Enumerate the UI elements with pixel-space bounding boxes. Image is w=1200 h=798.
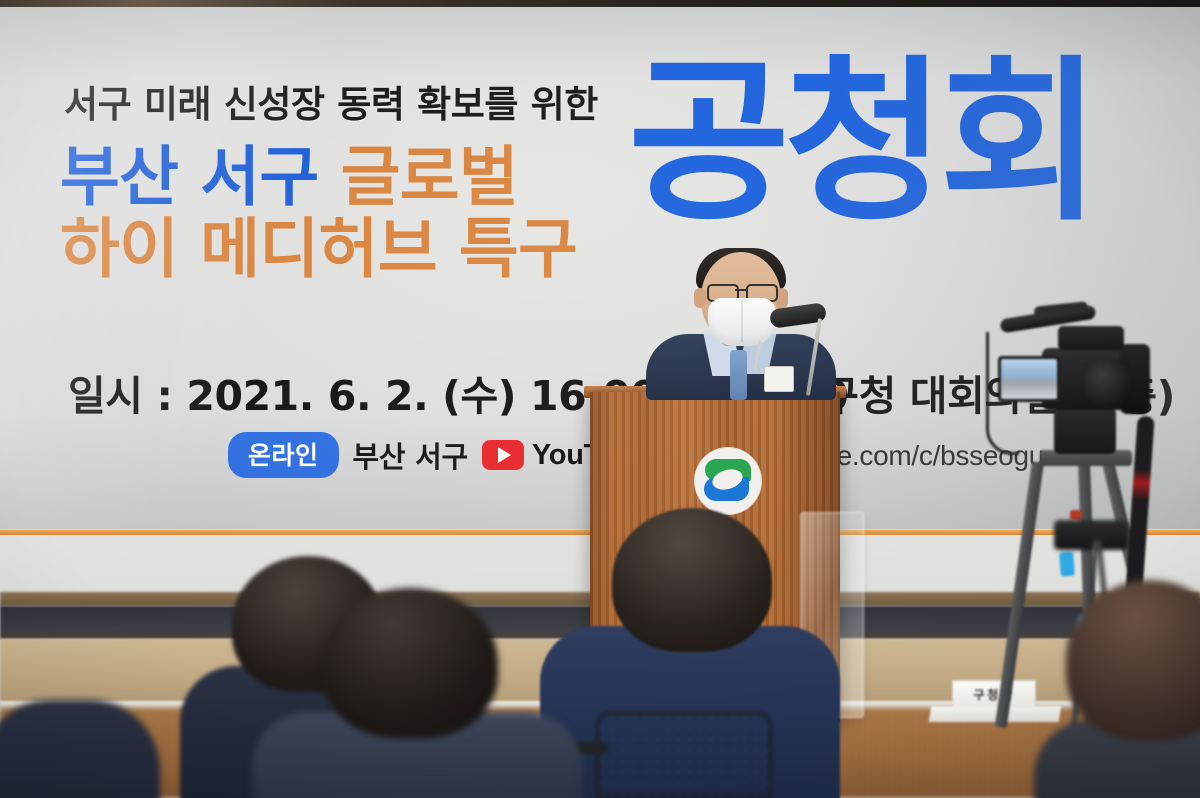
banner-online-row: 온라인 부산 서구 YouTube [228, 432, 650, 478]
tripod-fluid-head [1054, 408, 1116, 454]
glasses-bridge [735, 289, 746, 291]
tripod-blue-marker [1059, 552, 1075, 577]
camera-hotshoe [1058, 326, 1124, 350]
office-chair [596, 712, 772, 798]
youtube-play-icon [482, 440, 524, 470]
banner-headline-line3: 하이 메디허브 특구 [60, 196, 577, 290]
speaker-tie [730, 350, 747, 400]
banner-big-title: 공청회 [628, 60, 1095, 225]
audience-member [0, 700, 160, 798]
audience-member [276, 588, 576, 798]
camera-lens-icon [1084, 360, 1130, 404]
tripod-leg [995, 461, 1044, 728]
second-camera-head [1054, 520, 1128, 550]
podium-emblem-icon [694, 447, 762, 515]
ceiling-strip [0, 0, 1200, 7]
online-badge: 온라인 [228, 432, 339, 478]
online-channel-name: 부산 서구 [353, 434, 468, 476]
photo-scene: 서구 미래 신성장 동력 확보를 위한 부산 서구 글로벌 하이 메디허브 특구… [0, 0, 1200, 798]
banner-headline-top: 서구 미래 신성장 동력 확보를 위한 [64, 74, 598, 128]
speaker-ear-left [694, 288, 706, 308]
camera-lcd-screen [998, 356, 1060, 402]
audience-member [1044, 580, 1200, 798]
speaker-name-badge [764, 366, 794, 392]
tripod-red-marker [1070, 510, 1082, 520]
